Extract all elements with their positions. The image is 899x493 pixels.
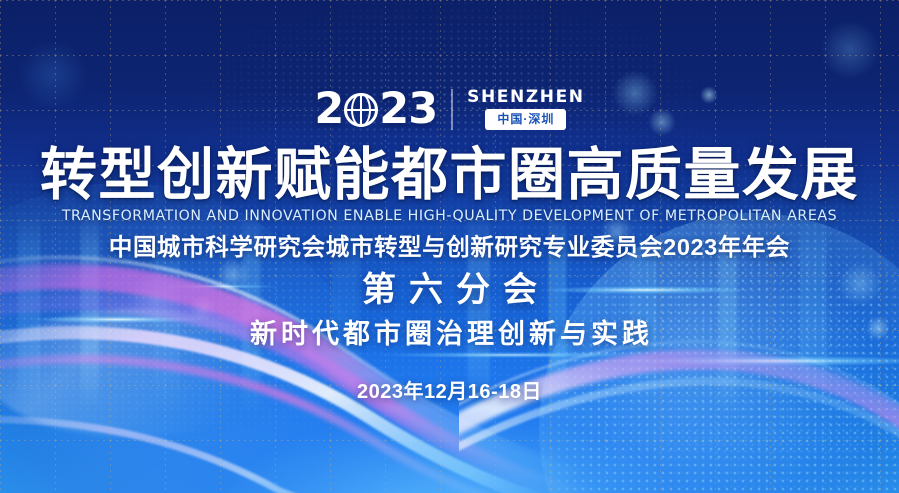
session-title: 第六分会 xyxy=(0,272,899,309)
event-date: 2023年12月16-18日 xyxy=(0,381,899,403)
city-name-badge: 中国·深圳 xyxy=(485,109,566,129)
globe-grid-icon xyxy=(344,93,378,127)
city-logo: SHENZHEN 中国·深圳 xyxy=(451,89,585,129)
conference-banner: 2 23 SHENZHEN 中国·深圳 转型创新赋能都市圈高质量发展 TRANS… xyxy=(0,0,899,493)
year-logo: 2 23 xyxy=(314,88,437,131)
english-subtitle: TRANSFORMATION AND INNOVATION ENABLE HIG… xyxy=(0,209,899,223)
organization-line: 中国城市科学研究会城市转型与创新研究专业委员会2023年年会 xyxy=(0,233,899,261)
session-subtitle: 新时代都市圈治理创新与实践 xyxy=(0,320,899,350)
logo-row: 2 23 SHENZHEN 中国·深圳 xyxy=(0,88,899,131)
year-prefix: 2 xyxy=(314,88,343,131)
year-suffix: 23 xyxy=(379,88,437,131)
globe-meridian xyxy=(351,93,371,127)
main-title: 转型创新赋能都市圈高质量发展 xyxy=(0,146,899,204)
city-name-en: SHENZHEN xyxy=(467,89,585,106)
banner-content: 2 23 SHENZHEN 中国·深圳 转型创新赋能都市圈高质量发展 TRANS… xyxy=(0,0,899,493)
